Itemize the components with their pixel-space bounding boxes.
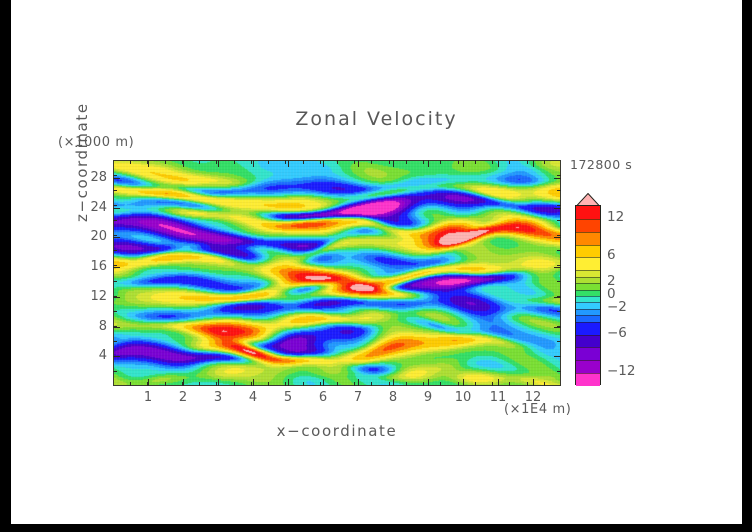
tick-mark [251, 382, 252, 386]
tick-mark [440, 382, 441, 386]
tick-mark [354, 160, 355, 164]
tick-mark [440, 160, 441, 164]
tick-mark [113, 235, 117, 236]
tick-mark [557, 356, 561, 357]
tick-mark [475, 382, 476, 386]
tick-mark [320, 160, 321, 164]
tick-mark [533, 160, 534, 167]
x-tick-label: 8 [378, 390, 408, 405]
tick-mark [406, 382, 407, 386]
tick-mark [288, 160, 289, 167]
tick-mark [428, 379, 429, 386]
tick-mark [303, 160, 304, 164]
tick-mark [183, 160, 184, 167]
tick-mark [337, 160, 338, 164]
colorbar-segment-divider [576, 270, 600, 271]
tick-mark [423, 160, 424, 164]
tick-mark [165, 160, 166, 164]
tick-mark [533, 379, 534, 386]
tick-mark [393, 160, 394, 167]
tick-mark [527, 160, 528, 164]
colorbar-segment-divider [576, 302, 600, 303]
colorbar-segment [576, 347, 600, 360]
tick-mark [182, 382, 183, 386]
tick-mark [354, 382, 355, 386]
tick-mark [147, 382, 148, 386]
tick-mark [130, 160, 131, 164]
tick-mark [113, 297, 120, 298]
tick-mark [492, 160, 493, 164]
colorbar-segment-divider [576, 245, 600, 246]
tick-mark [216, 382, 217, 386]
colorbar-segment-divider [576, 290, 600, 291]
tick-mark [393, 379, 394, 386]
tick-mark [323, 160, 324, 167]
x-axis-label: x−coordinate [113, 422, 561, 440]
colorbar-segment [576, 206, 600, 219]
colorbar-segment-divider [576, 277, 600, 278]
tick-mark [557, 175, 561, 176]
tick-mark [113, 205, 117, 206]
tick-mark [498, 379, 499, 386]
tick-mark [148, 379, 149, 386]
tick-mark [554, 237, 561, 238]
tick-mark [557, 281, 561, 282]
colorbar-segment-divider [576, 309, 600, 310]
contour-plot-area [113, 160, 561, 386]
tick-mark [428, 160, 429, 167]
colorbar-segment-divider [576, 347, 600, 348]
tick-mark [113, 237, 120, 238]
colorbar-segment-divider [576, 232, 600, 233]
tick-mark [113, 341, 117, 342]
colorbar-gradient [575, 205, 601, 385]
x-tick-label: 5 [273, 390, 303, 405]
y-tick-label: 16 [81, 259, 107, 274]
tick-mark [113, 265, 117, 266]
tick-mark [463, 160, 464, 167]
figure-frame: Zonal Velocity (×1000 m) 282420161284 12… [0, 0, 752, 532]
time-annotation: 172800 s [570, 157, 632, 172]
tick-mark [557, 235, 561, 236]
tick-mark [554, 178, 561, 179]
tick-mark [389, 160, 390, 164]
tick-mark [268, 160, 269, 164]
x-tick-label: 1 [133, 390, 163, 405]
tick-mark [557, 220, 561, 221]
tick-mark [358, 160, 359, 167]
y-tick-label: 20 [81, 229, 107, 244]
tick-mark [337, 382, 338, 386]
tick-mark [113, 250, 117, 251]
figure-canvas: Zonal Velocity (×1000 m) 282420161284 12… [11, 0, 742, 524]
tick-mark [113, 326, 117, 327]
tick-mark [253, 379, 254, 386]
y-tick-label: 12 [81, 289, 107, 304]
tick-mark [218, 379, 219, 386]
tick-mark [113, 311, 117, 312]
tick-mark [285, 160, 286, 164]
colorbar-segment-divider [576, 322, 600, 323]
colorbar-segment-divider [576, 257, 600, 258]
tick-mark [358, 379, 359, 386]
tick-mark [113, 356, 117, 357]
tick-mark [113, 178, 120, 179]
tick-mark [113, 220, 117, 221]
x-tick-label: 10 [448, 390, 478, 405]
tick-mark [113, 371, 117, 372]
tick-mark [554, 208, 561, 209]
colorbar-segment-divider [576, 219, 600, 220]
tick-mark [554, 297, 561, 298]
tick-mark [113, 267, 120, 268]
tick-mark [463, 379, 464, 386]
y-tick-label: 8 [81, 319, 107, 334]
colorbar-tick-label: −12 [607, 363, 636, 379]
x-tick-label: 7 [343, 390, 373, 405]
tick-mark [557, 205, 561, 206]
colorbar-tick-label: 12 [607, 209, 624, 225]
colorbar-tick-label: −6 [607, 325, 627, 341]
tick-mark [303, 382, 304, 386]
colorbar-tick-label: 6 [607, 247, 616, 263]
colorbar [575, 192, 601, 385]
tick-mark [557, 326, 561, 327]
colorbar-segment-divider [576, 315, 600, 316]
tick-mark [557, 371, 561, 372]
tick-mark [234, 382, 235, 386]
colorbar-segment [576, 373, 600, 386]
tick-mark [148, 160, 149, 167]
tick-mark [544, 160, 545, 164]
tick-mark [406, 160, 407, 164]
tick-mark [234, 160, 235, 164]
tick-mark [113, 208, 120, 209]
colorbar-segment [576, 360, 600, 373]
colorbar-segment-divider [576, 335, 600, 336]
tick-mark [544, 382, 545, 386]
tick-mark [113, 281, 117, 282]
tick-mark [182, 160, 183, 164]
tick-mark [113, 175, 117, 176]
colorbar-tick-label: −2 [607, 299, 627, 315]
y-tick-label: 4 [81, 348, 107, 363]
x-axis-unit-label: (×1E4 m) [504, 402, 571, 417]
tick-mark [288, 379, 289, 386]
tick-mark [268, 382, 269, 386]
tick-mark [554, 327, 561, 328]
colorbar-segment [576, 245, 600, 258]
tick-mark [216, 160, 217, 164]
colorbar-segment [576, 219, 600, 232]
tick-mark [527, 382, 528, 386]
page-title: Zonal Velocity [11, 108, 742, 130]
tick-mark [113, 296, 117, 297]
colorbar-segment [576, 232, 600, 245]
tick-mark [165, 382, 166, 386]
colorbar-segment [576, 335, 600, 348]
tick-mark [199, 160, 200, 164]
tick-mark [130, 382, 131, 386]
tick-mark [323, 379, 324, 386]
tick-mark [509, 382, 510, 386]
colorbar-segment-divider [576, 373, 600, 374]
tick-mark [113, 327, 120, 328]
tick-mark [218, 160, 219, 167]
tick-mark [371, 160, 372, 164]
tick-mark [557, 311, 561, 312]
x-tick-label: 3 [203, 390, 233, 405]
tick-mark [458, 160, 459, 164]
tick-mark [423, 382, 424, 386]
tick-mark [389, 382, 390, 386]
tick-mark [554, 267, 561, 268]
tick-mark [492, 382, 493, 386]
y-axis-label: z−coordinate [73, 102, 91, 222]
tick-mark [147, 160, 148, 164]
tick-mark [371, 382, 372, 386]
zonal-velocity-heatmap [113, 160, 561, 386]
y-axis-unit-label: (×1000 m) [58, 135, 134, 150]
tick-mark [498, 160, 499, 167]
tick-mark [557, 341, 561, 342]
x-axis-tick-labels: 123456789101112 [113, 390, 561, 408]
colorbar-segment-divider [576, 296, 600, 297]
tick-mark [320, 382, 321, 386]
tick-mark [557, 265, 561, 266]
colorbar-segment [576, 257, 600, 270]
colorbar-segment [576, 322, 600, 335]
x-tick-label: 4 [238, 390, 268, 405]
tick-mark [199, 382, 200, 386]
tick-mark [557, 190, 561, 191]
x-tick-label: 6 [308, 390, 338, 405]
tick-mark [253, 160, 254, 167]
tick-mark [113, 190, 117, 191]
tick-mark [557, 296, 561, 297]
tick-mark [458, 382, 459, 386]
tick-mark [509, 160, 510, 164]
tick-mark [475, 160, 476, 164]
x-tick-label: 9 [413, 390, 443, 405]
tick-mark [285, 382, 286, 386]
colorbar-segment-divider [576, 360, 600, 361]
colorbar-tick-labels: 12620−2−6−12 [607, 192, 667, 392]
tick-mark [183, 379, 184, 386]
colorbar-segment-divider [576, 283, 600, 284]
tick-mark [557, 250, 561, 251]
x-tick-label: 2 [168, 390, 198, 405]
colorbar-top-arrow-icon [575, 192, 601, 205]
tick-mark [251, 160, 252, 164]
